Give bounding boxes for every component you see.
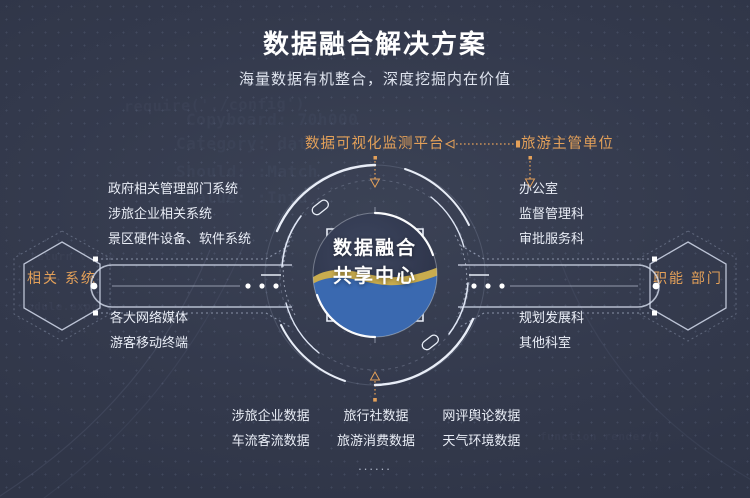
list-item: 涉旅企业相关系统 [108,201,251,226]
list-item: 规划发展科 [519,305,584,330]
grid-item: 涉旅企业数据 [218,405,323,424]
hexagon-right-label: 职能 部门 [632,268,744,288]
hexagon-functional-departments[interactable]: 职能 部门 [632,228,744,344]
grid-item: 天气环境数据 [429,430,534,449]
dotted-left-arrow-icon [445,138,523,150]
list-item: 办公室 [519,176,584,201]
list-item: 政府相关管理部门系统 [108,176,251,201]
bottom-data-sources-grid: 涉旅企业数据 旅行社数据 网评舆论数据 车流客流数据 旅游消费数据 天气环境数据 [218,405,534,449]
central-data-hub: 数据融合 共享中心 [255,155,495,395]
left-source-list-bottom: 各大网络媒体 游客移动终端 [110,305,188,355]
right-department-list-top: 办公室 监督管理科 审批服务科 [519,176,584,251]
grid-item: 旅游消费数据 [323,430,428,449]
list-item: 各大网络媒体 [110,305,188,330]
right-department-list-bottom: 规划发展科 其他科室 [519,305,584,355]
top-label-tourism-authority[interactable]: 旅游主管单位 [521,132,614,153]
hud-rings [255,155,495,395]
page-subtitle: 海量数据有机整合，深度挖掘内在价值 [0,68,750,89]
list-item: 景区硬件设备、软件系统 [108,226,251,251]
top-label-row: 数据可视化监测平台 旅游主管单位 [0,132,750,156]
bottom-ellipsis: ...... [0,458,750,473]
grid-item: 旅行社数据 [323,405,428,424]
list-item: 游客移动终端 [110,330,188,355]
hexagon-related-systems[interactable]: 相关 系统 [6,228,118,344]
grid-item: 车流客流数据 [218,430,323,449]
hexagon-left-label: 相关 系统 [6,268,118,288]
top-label-visualization-platform[interactable]: 数据可视化监测平台 [305,132,445,153]
list-item: 其他科室 [519,330,584,355]
list-item: 审批服务科 [519,226,584,251]
list-item: 监督管理科 [519,201,584,226]
grid-item: 网评舆论数据 [429,405,534,424]
page-title: 数据融合解决方案 [0,24,750,61]
infographic-canvas: require('./config') Copyboard: 70h000 Ca… [0,0,750,498]
left-source-list-top: 政府相关管理部门系统 涉旅企业相关系统 景区硬件设备、软件系统 [108,176,251,251]
